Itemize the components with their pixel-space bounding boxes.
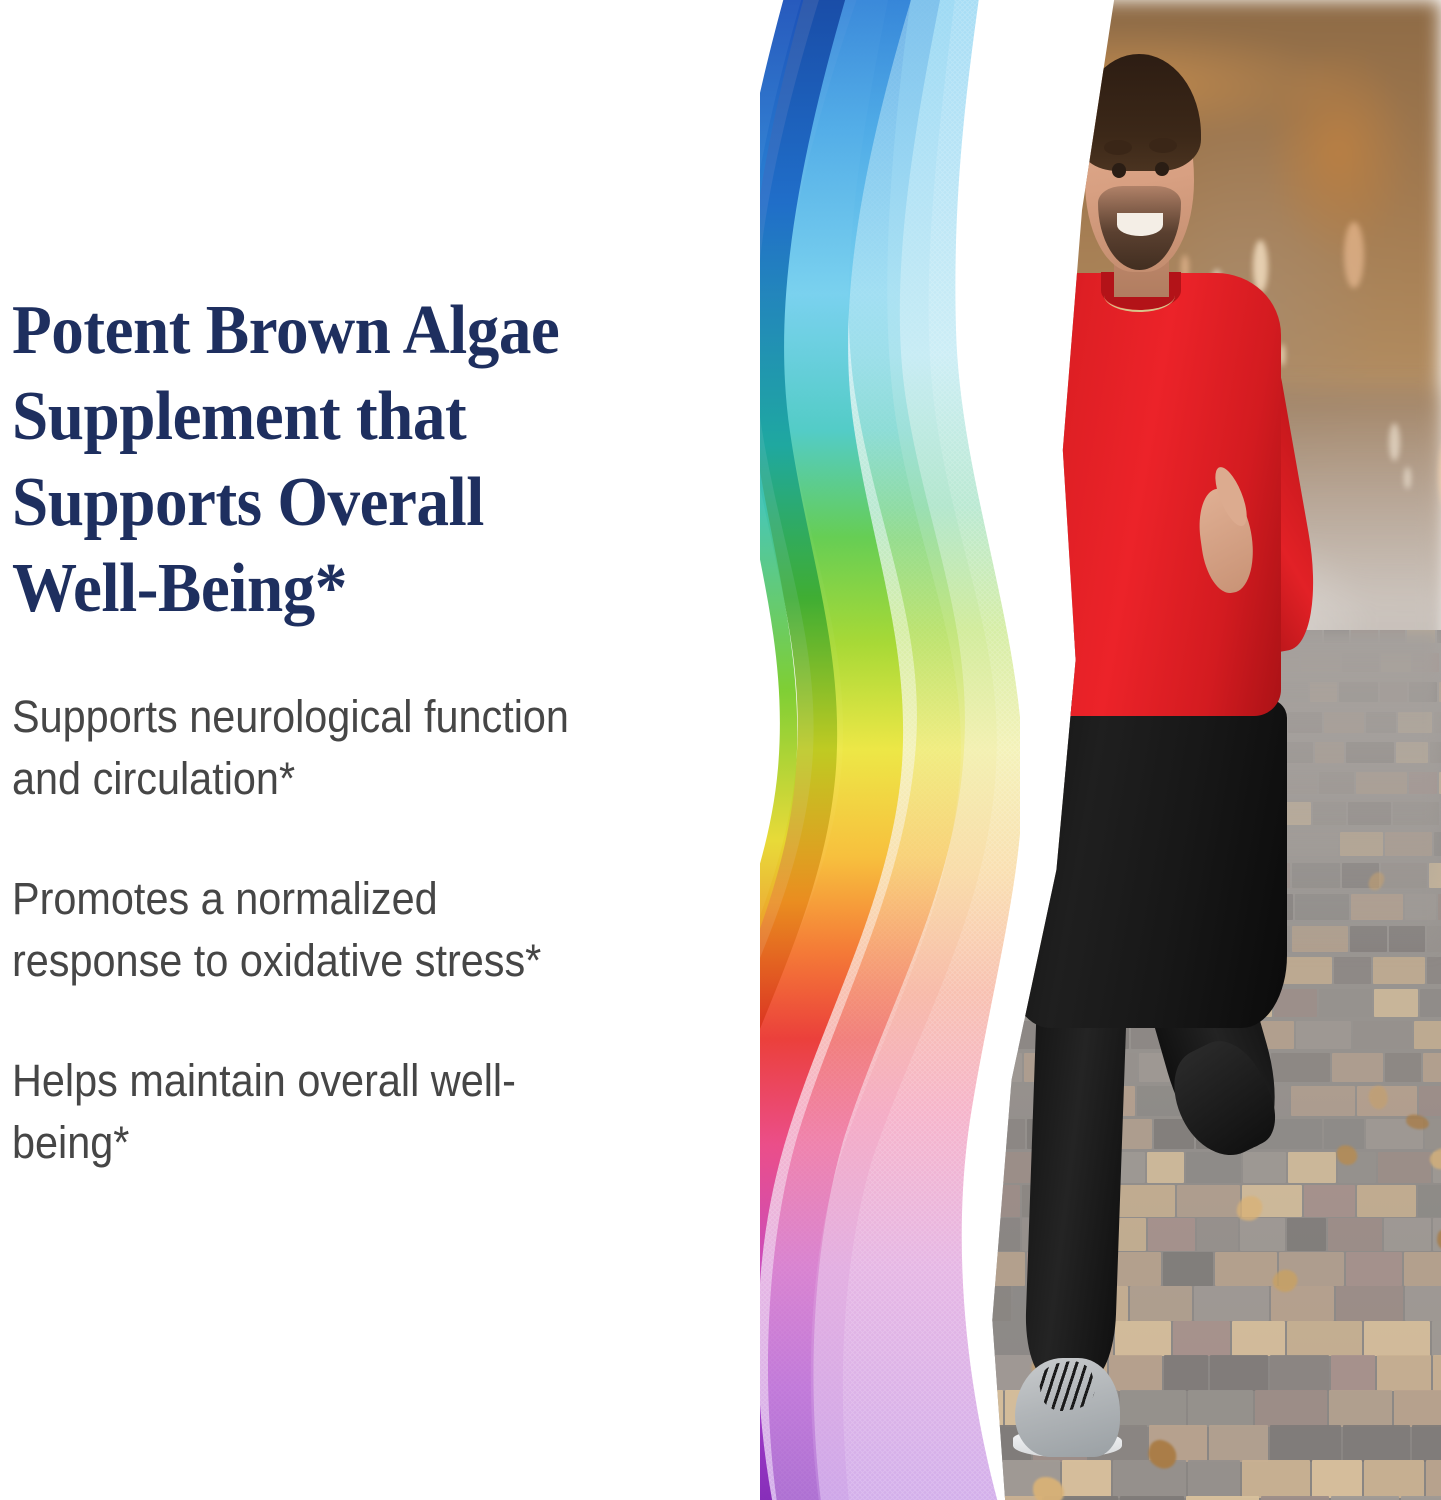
photo-inner (800, 0, 1441, 1500)
runner-shorts (1005, 698, 1287, 1028)
headline-line-1: Potent Brown Algae (12, 292, 559, 369)
page-title: Potent Brown Algae Supplement that Suppo… (12, 288, 691, 632)
ribbon-wisp-outer (811, 0, 997, 1500)
marketing-banner: Potent Brown Algae Supplement that Suppo… (0, 0, 1441, 1500)
runner-hair (1077, 54, 1201, 171)
benefit-item-1: Supports neurological function and circu… (12, 686, 601, 810)
copy-panel: Potent Brown Algae Supplement that Suppo… (0, 0, 760, 1500)
headline-line-2: Supplement that (12, 378, 466, 455)
ribbon-strand-cross (768, 0, 965, 1500)
runner-right-eyebrow (1149, 138, 1177, 153)
runner-necklace (1104, 279, 1175, 312)
runner-left-eyebrow (1104, 140, 1132, 155)
runner-figure (800, 0, 1441, 1500)
runner-photo (800, 0, 1441, 1500)
runner-right-hand (992, 630, 1040, 728)
runner-smile (1117, 213, 1163, 236)
headline-line-3: Supports Overall (12, 464, 484, 541)
benefit-item-2: Promotes a normalized response to oxidat… (12, 868, 601, 992)
headline-line-4: Well-Being* (12, 550, 347, 627)
runner-left-arm (960, 312, 1069, 692)
benefits-list: Supports neurological function and circu… (12, 686, 612, 1174)
runner-left-eye (1112, 163, 1126, 177)
benefit-item-3: Helps maintain overall well-being* (12, 1050, 601, 1174)
